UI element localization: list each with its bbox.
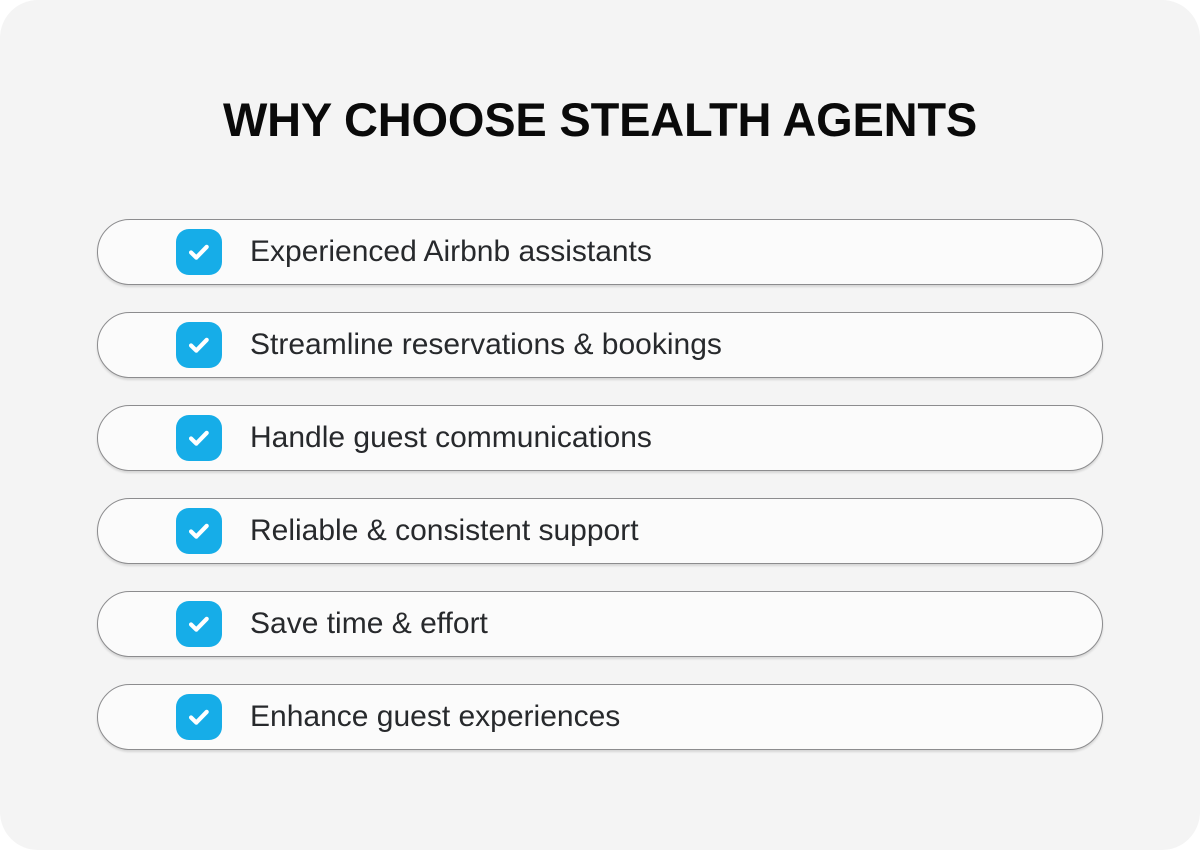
list-item-label: Enhance guest experiences	[250, 700, 620, 734]
list-item[interactable]: Handle guest communications	[97, 405, 1103, 471]
check-icon[interactable]	[176, 229, 222, 275]
page-title: WHY CHOOSE STEALTH AGENTS	[0, 92, 1200, 148]
list-item-label: Experienced Airbnb assistants	[250, 235, 652, 269]
list-item-label: Reliable & consistent support	[250, 514, 639, 548]
check-icon[interactable]	[176, 322, 222, 368]
list-item-label: Save time & effort	[250, 607, 488, 641]
list-item[interactable]: Enhance guest experiences	[97, 684, 1103, 750]
list-item-label: Streamline reservations & bookings	[250, 328, 722, 362]
why-choose-card: WHY CHOOSE STEALTH AGENTS Experienced Ai…	[0, 0, 1200, 850]
list-item[interactable]: Experienced Airbnb assistants	[97, 219, 1103, 285]
list-item[interactable]: Save time & effort	[97, 591, 1103, 657]
list-item-label: Handle guest communications	[250, 421, 652, 455]
list-item[interactable]: Reliable & consistent support	[97, 498, 1103, 564]
check-icon[interactable]	[176, 508, 222, 554]
list-item[interactable]: Streamline reservations & bookings	[97, 312, 1103, 378]
check-icon[interactable]	[176, 694, 222, 740]
check-icon[interactable]	[176, 415, 222, 461]
check-icon[interactable]	[176, 601, 222, 647]
feature-list: Experienced Airbnb assistants Streamline…	[97, 219, 1103, 750]
